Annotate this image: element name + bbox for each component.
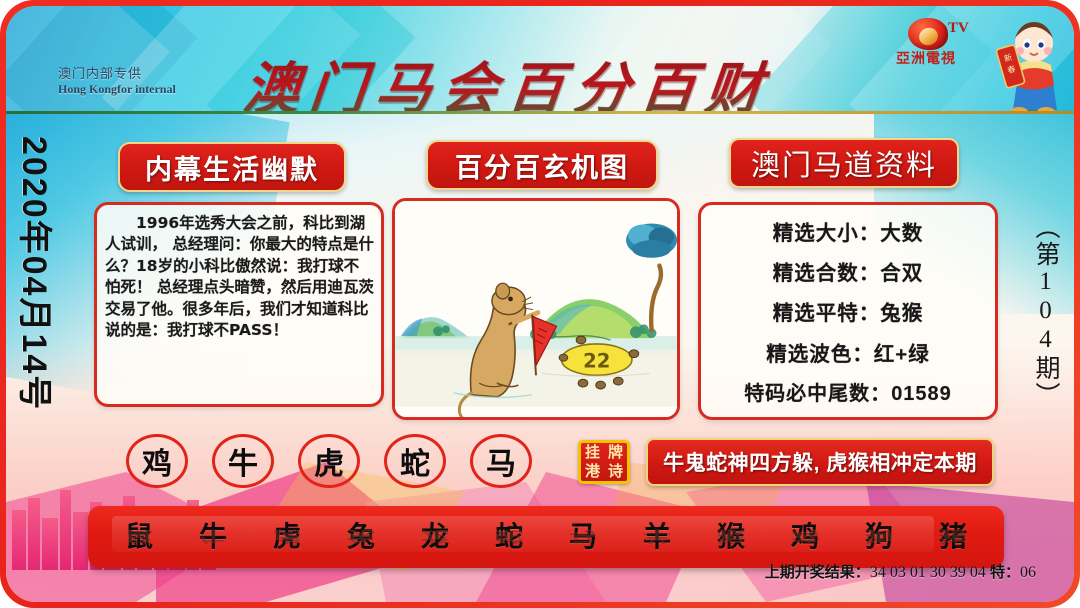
guapai-gangshi-badge[interactable]: 挂 牌 港 诗 [578,440,630,484]
data-row: 精选大小：大数 [711,216,985,246]
last-draw-result: 上期开奖结果：34 03 01 30 39 04 特：06 [765,561,1036,582]
pick-circle[interactable]: 马 [470,434,532,488]
picture-panel: 22 [392,198,680,420]
atv-tv-label: TV [948,20,969,37]
data-row-label: 精选平特： [773,302,881,325]
zodiac-item[interactable]: 猪 [939,523,967,551]
zodiac-item[interactable]: 鸡 [791,523,819,551]
banner-subtitle-cn: 澳门内部专供 [58,66,176,82]
pick-circle[interactable]: 虎 [298,434,360,488]
data-row-label: 精选波色： [766,343,874,366]
issue-number: （第104期） [1018,214,1058,409]
zodiac-item[interactable]: 马 [569,523,597,551]
data-row-label: 特码必中尾数： [744,383,891,405]
data-row-value: 红+绿 [874,343,930,366]
panel-heading-picture[interactable]: 百分百玄机图 [426,140,658,190]
date-strip-text: 2020年04月14号 [13,136,62,411]
data-row-value: 大数 [880,222,923,245]
zodiac-item[interactable]: 龙 [421,523,449,551]
poster-inner: 澳门内部专供 Hong Kongfor internal 澳门马会百分百财 TV… [6,6,1074,602]
picture-number: 22 [583,349,610,372]
badge-char: 港 [585,464,600,479]
data-row-value: 兔猴 [880,302,923,325]
zodiac-item[interactable]: 羊 [643,523,671,551]
banner-subtitle-en: Hong Kongfor internal [58,82,176,97]
pick-circles-row: 鸡 牛 虎 蛇 马 [126,434,532,488]
zodiac-item[interactable]: 鼠 [125,523,153,551]
page-title: 澳门马会百分百财 [240,44,777,114]
panel-heading-joke[interactable]: 内幕生活幽默 [118,142,346,192]
zodiac-strip: 鼠 牛 虎 兔 龙 蛇 马 羊 猴 鸡 狗 猪 [88,506,1004,568]
data-row-label: 精选大小： [773,222,881,245]
badge-char: 牌 [608,445,623,460]
atv-logo: TV 亞洲電視 [892,16,1000,70]
pick-circle[interactable]: 牛 [212,434,274,488]
badge-char: 诗 [608,464,623,479]
pick-circle[interactable]: 蛇 [384,434,446,488]
banner-subtitle: 澳门内部专供 Hong Kongfor internal [58,66,176,97]
zodiac-item[interactable]: 兔 [347,523,375,551]
zodiac-item[interactable]: 蛇 [495,523,523,551]
joke-panel: 1996年选秀大会之前，科比到湖人试训， 总经理问：你最大的特点是什么？18岁的… [94,202,384,407]
data-panel: 精选大小：大数 精选合数：合双 精选平特：兔猴 精选波色：红+绿 特码必中尾数：… [698,202,998,420]
result-label: 上期开奖结果： [765,564,870,581]
data-row-label: 精选合数： [773,262,881,285]
mascot-boy-icon: 新 春 [994,10,1070,114]
zodiac-item[interactable]: 虎 [273,523,301,551]
badge-char: 挂 [585,445,600,460]
result-numbers: 34 03 01 30 39 04 [870,564,986,581]
pick-circle[interactable]: 鸡 [126,434,188,488]
atv-swirl-icon [908,18,948,50]
zodiac-item[interactable]: 牛 [199,523,227,551]
slogan-banner: 牛鬼蛇神四方躲, 虎猴相冲定本期 [646,438,994,486]
atv-brand-label: 亞洲電視 [896,48,956,68]
zodiac-item[interactable]: 猴 [717,523,745,551]
outer-red-frame: 澳门内部专供 Hong Kongfor internal 澳门马会百分百财 TV… [0,0,1080,608]
data-row: 精选波色：红+绿 [711,337,985,367]
poster-root: 澳门内部专供 Hong Kongfor internal 澳门马会百分百财 TV… [0,0,1080,608]
result-special-value: 06 [1020,564,1036,581]
joke-text: 1996年选秀大会之前，科比到湖人试训， 总经理问：你最大的特点是什么？18岁的… [97,205,381,345]
panel-heading-data[interactable]: 澳门马道资料 [729,138,959,188]
data-row-value: 01589 [891,383,952,405]
mouse-with-flag-illustration: 22 [395,201,677,418]
data-rows: 精选大小：大数 精选合数：合双 精选平特：兔猴 精选波色：红+绿 特码必中尾数：… [701,205,995,417]
data-row: 精选平特：兔猴 [711,296,985,326]
zodiac-item[interactable]: 狗 [865,523,893,551]
date-strip: 2020年04月14号 [20,132,66,512]
data-row-value: 合双 [880,262,923,285]
header-banner: 澳门内部专供 Hong Kongfor internal 澳门马会百分百财 TV… [6,6,1074,114]
data-row: 精选合数：合双 [711,256,985,286]
result-special-label: 特： [990,564,1020,581]
data-row: 特码必中尾数：01589 [711,377,985,406]
